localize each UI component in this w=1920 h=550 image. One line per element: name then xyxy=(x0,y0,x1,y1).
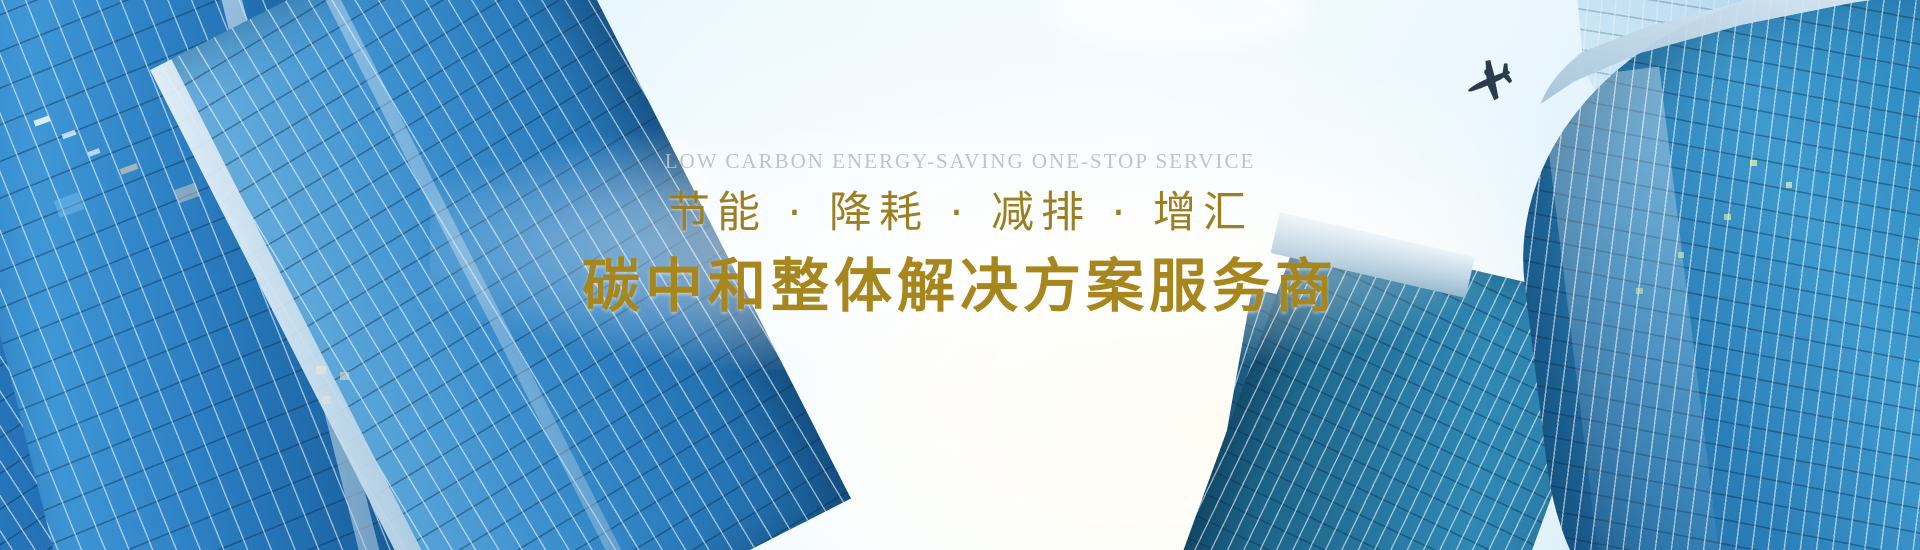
window-reflection xyxy=(316,366,326,374)
hero-banner: LOW CARBON ENERGY-SAVING ONE-STOP SERVIC… xyxy=(0,0,1920,550)
banner-headline-text: 碳中和整体解决方案服务商 xyxy=(0,253,1920,320)
window-reflection xyxy=(1786,182,1792,188)
window-reflection xyxy=(322,396,331,404)
banner-subtitle-text: 节能 · 降耗 · 减排 · 增汇 xyxy=(0,189,1920,238)
window-reflection xyxy=(340,372,349,380)
banner-eyebrow-text: LOW CARBON ENERGY-SAVING ONE-STOP SERVIC… xyxy=(0,150,1920,173)
